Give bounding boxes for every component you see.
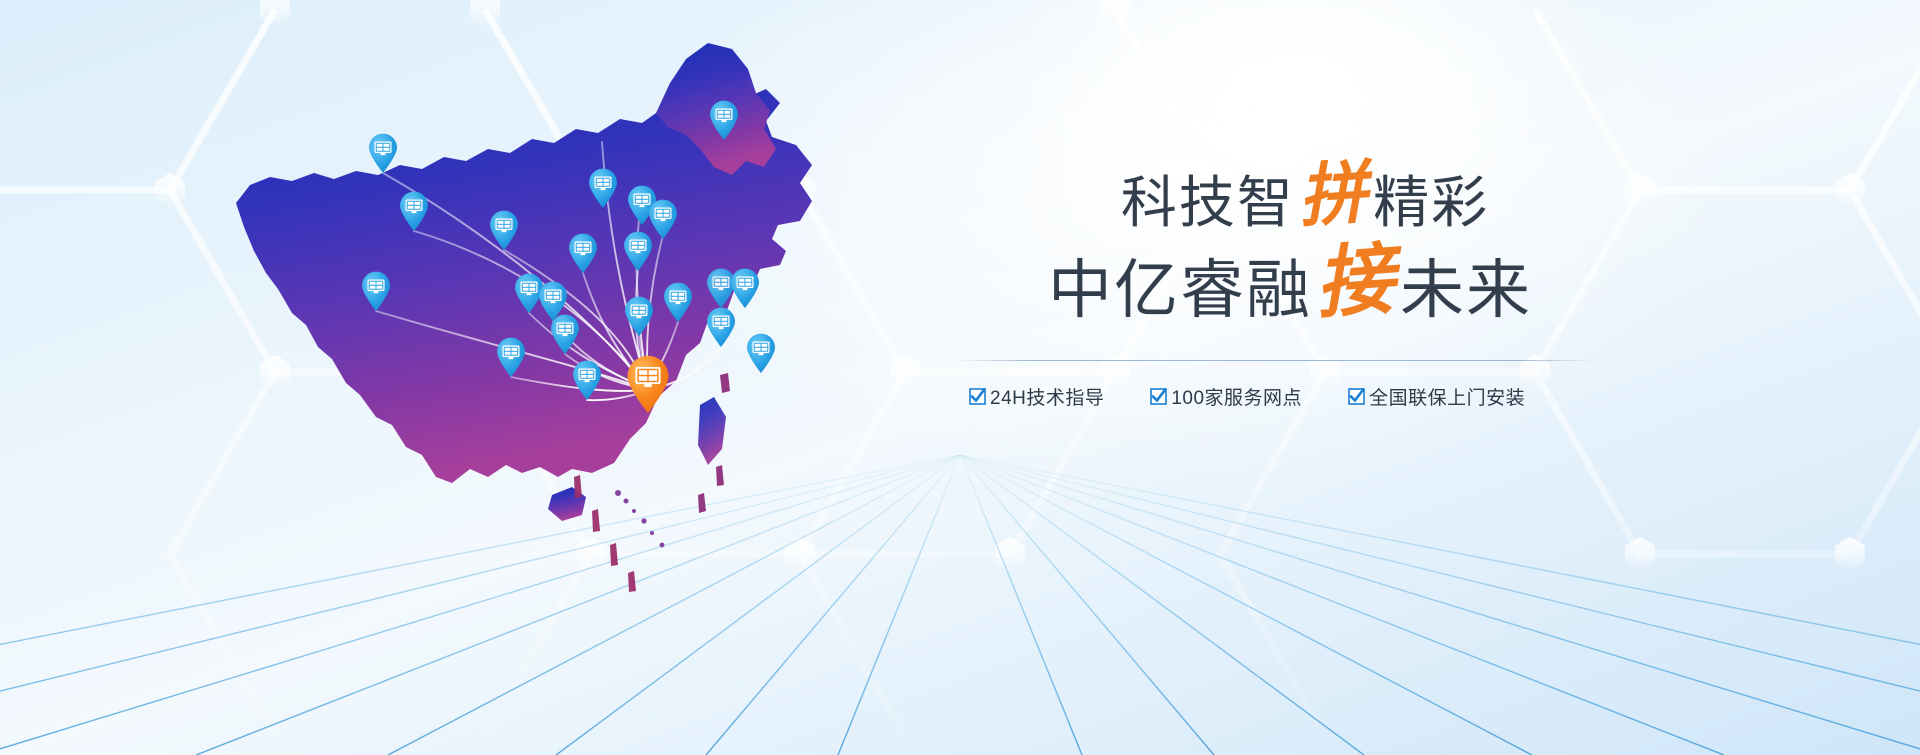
banner-text-block: 科技智拼精彩 中亿睿融接未来 24H技术指导: [955, 160, 1615, 410]
map-pin[interactable]: [707, 308, 735, 347]
map-svg: [200, 25, 1020, 665]
check-box-icon: [1348, 388, 1365, 405]
headline-line-2: 中亿睿融接未来: [955, 243, 1615, 334]
china-service-map: [200, 25, 820, 635]
feature-label: 100家服务网点: [1171, 383, 1302, 410]
feature-label: 24H技术指导: [990, 383, 1104, 410]
feature-label: 全国联保上门安装: [1369, 383, 1525, 410]
headline-line1-post: 精彩: [1373, 173, 1489, 235]
check-box-icon: [1150, 388, 1167, 405]
map-pin-small[interactable]: [747, 334, 775, 373]
headline-divider: [955, 360, 1595, 361]
map-pin[interactable]: [369, 134, 397, 173]
feature-item: 24H技术指导: [969, 383, 1104, 410]
headline-line1-pre: 科技智: [1121, 173, 1295, 235]
feature-item: 全国联保上门安装: [1348, 383, 1525, 410]
headline-line2-brush: 接: [1309, 236, 1403, 328]
feature-list: 24H技术指导 100家服务网点 全国联保上: [955, 383, 1615, 410]
headline-line-1: 科技智拼精彩: [955, 160, 1615, 243]
headline-line2-post: 未来: [1400, 255, 1532, 326]
promo-banner: 科技智拼精彩 中亿睿融接未来 24H技术指导: [0, 0, 1920, 755]
feature-item: 100家服务网点: [1150, 383, 1302, 410]
headline-line1-brush: 拼: [1292, 153, 1376, 236]
headline-line2-pre: 中亿睿融: [1048, 255, 1312, 326]
check-box-icon: [969, 388, 986, 405]
map-pin-small[interactable]: [731, 269, 759, 308]
